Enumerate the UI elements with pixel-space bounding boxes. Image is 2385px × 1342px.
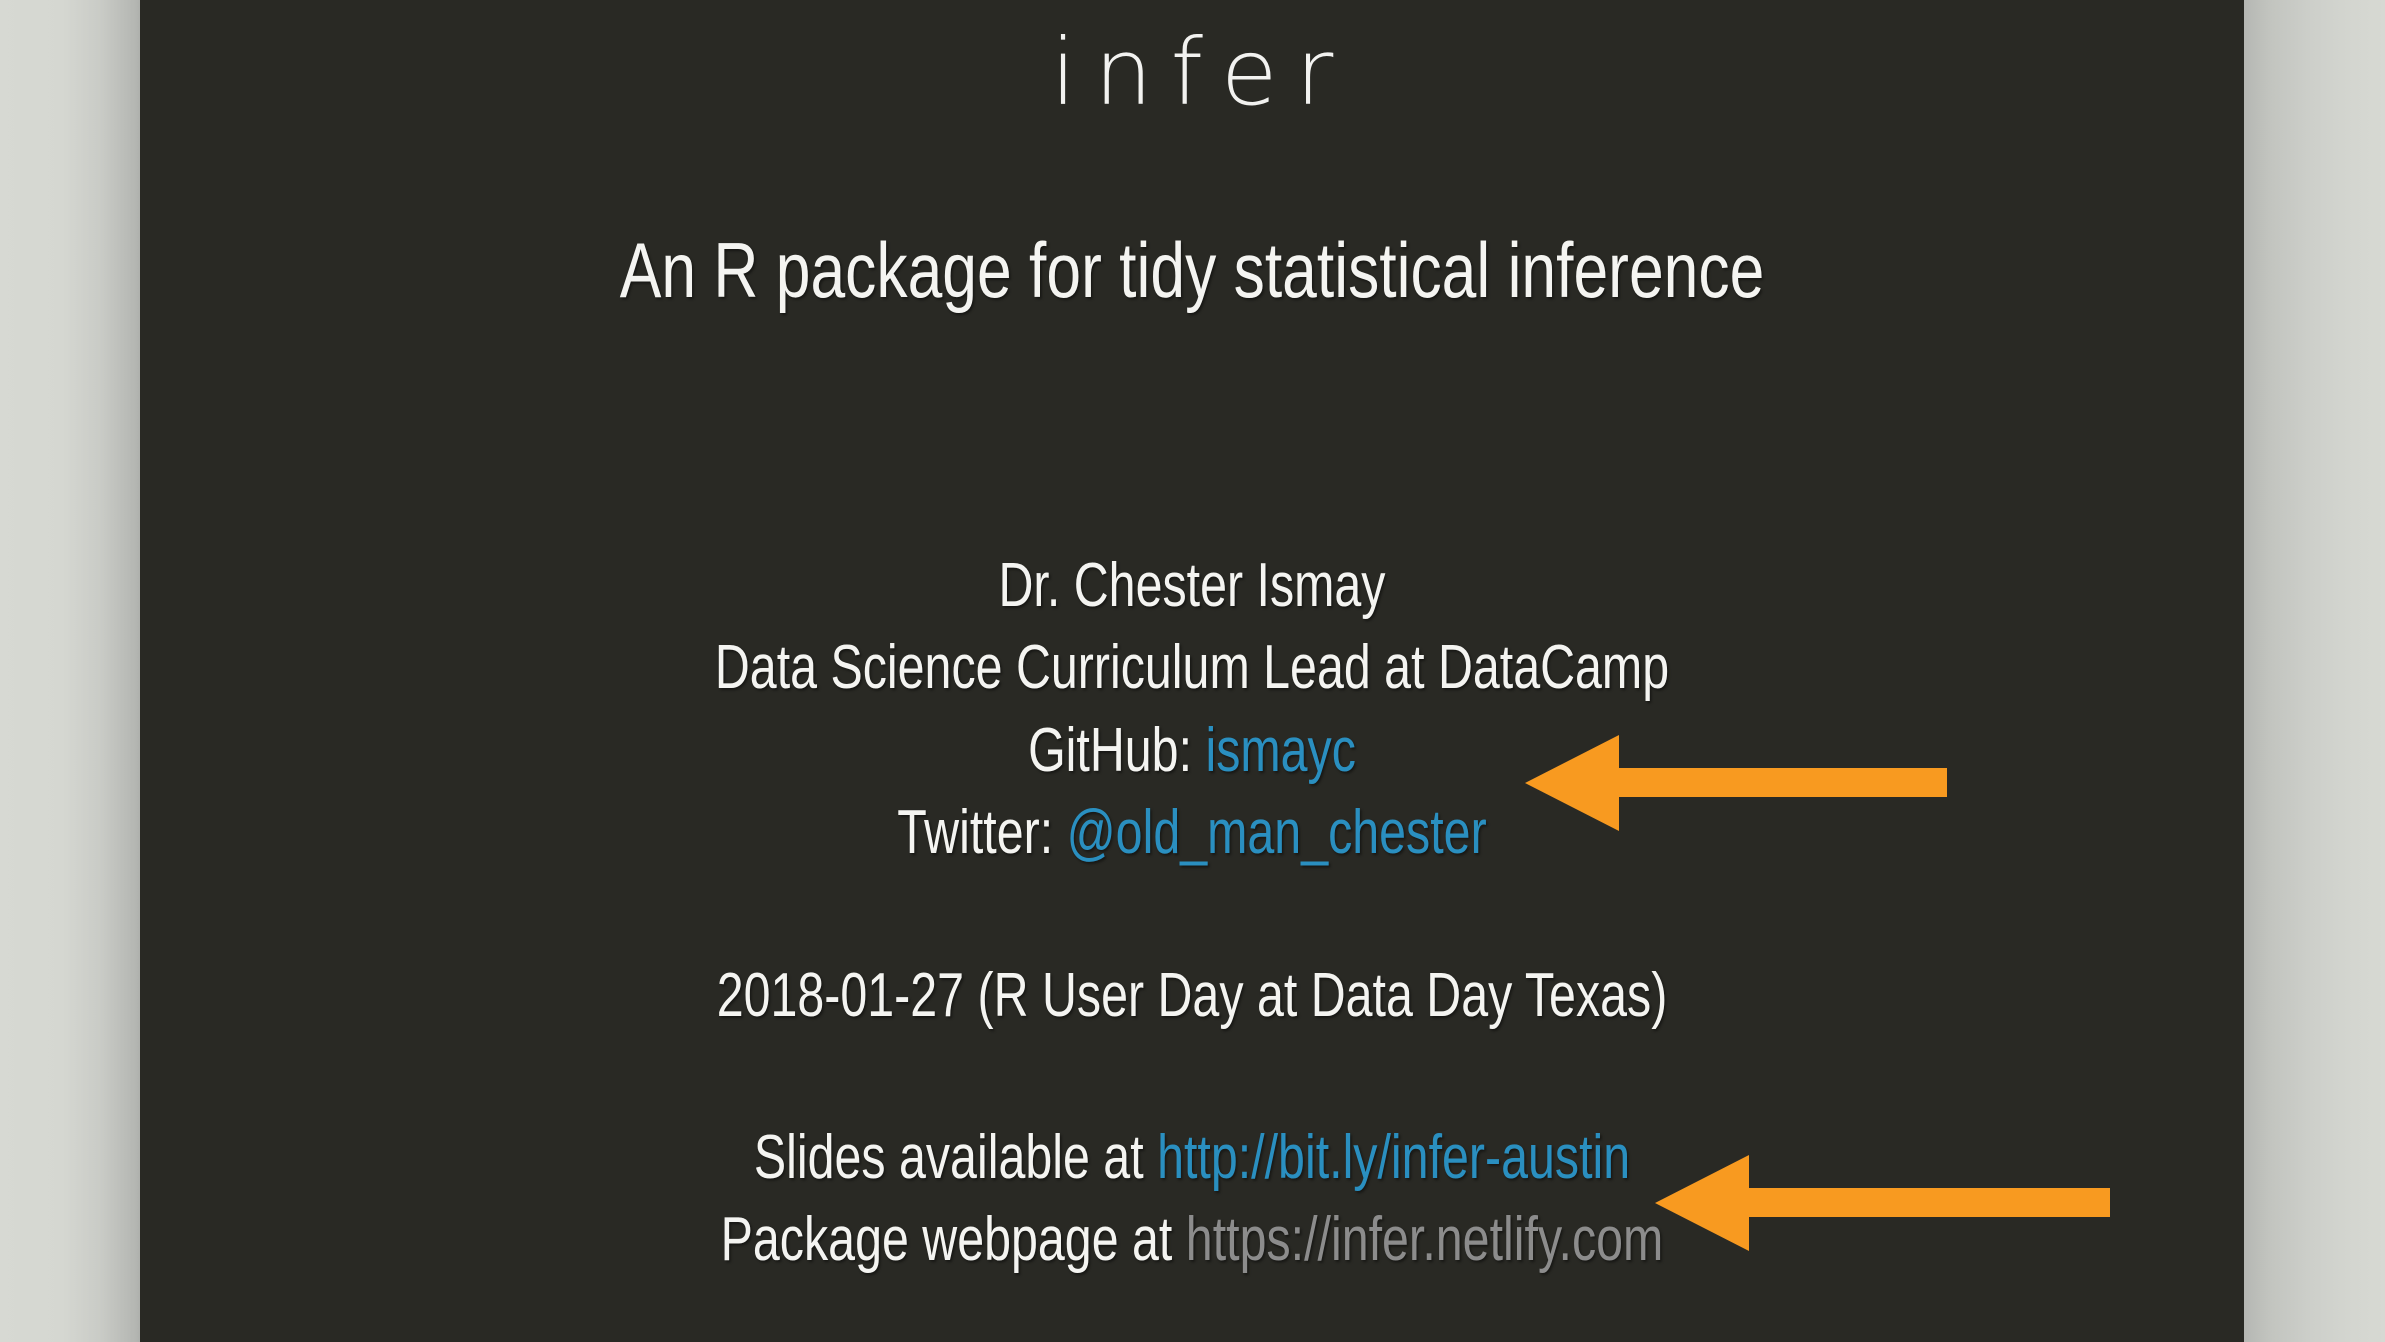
slides-label: Slides available at (754, 1123, 1157, 1192)
arrow-head-icon (1655, 1155, 1749, 1251)
page-margin-right (2244, 0, 2385, 1342)
slides-url-link[interactable]: http://bit.ly/infer-austin (1157, 1123, 1630, 1192)
event-block: 2018-01-27 (R User Day at Data Day Texas… (371, 955, 2012, 1037)
github-label: GitHub: (1028, 716, 1205, 785)
author-block: Dr. Chester Ismay Data Science Curriculu… (371, 545, 2012, 875)
webpage-url-link[interactable]: https://infer.netlify.com (1186, 1205, 1664, 1274)
author-name: Dr. Chester Ismay (371, 545, 2012, 627)
slide-subtitle: An R package for tidy statistical infere… (350, 230, 2033, 312)
arrow-head-icon (1525, 735, 1619, 831)
page-margin-left (0, 0, 140, 1342)
presentation-page: infer An R package for tidy statistical … (0, 0, 2385, 1342)
github-handle-link[interactable]: ismayc (1205, 716, 1355, 785)
twitter-label: Twitter: (897, 798, 1066, 867)
twitter-handle-link[interactable]: @old_man_chester (1067, 798, 1487, 867)
event-date-and-venue: 2018-01-27 (R User Day at Data Day Texas… (371, 955, 2012, 1037)
webpage-label: Package webpage at (721, 1205, 1186, 1274)
arrow-shaft-icon (1617, 768, 1947, 797)
arrow-shaft-icon (1747, 1188, 2110, 1217)
infer-logo: infer (140, 22, 2244, 123)
author-affiliation: Data Science Curriculum Lead at DataCamp (371, 627, 2012, 709)
slide-canvas[interactable]: infer An R package for tidy statistical … (140, 0, 2244, 1342)
author-twitter-line: Twitter: @old_man_chester (371, 792, 2012, 874)
